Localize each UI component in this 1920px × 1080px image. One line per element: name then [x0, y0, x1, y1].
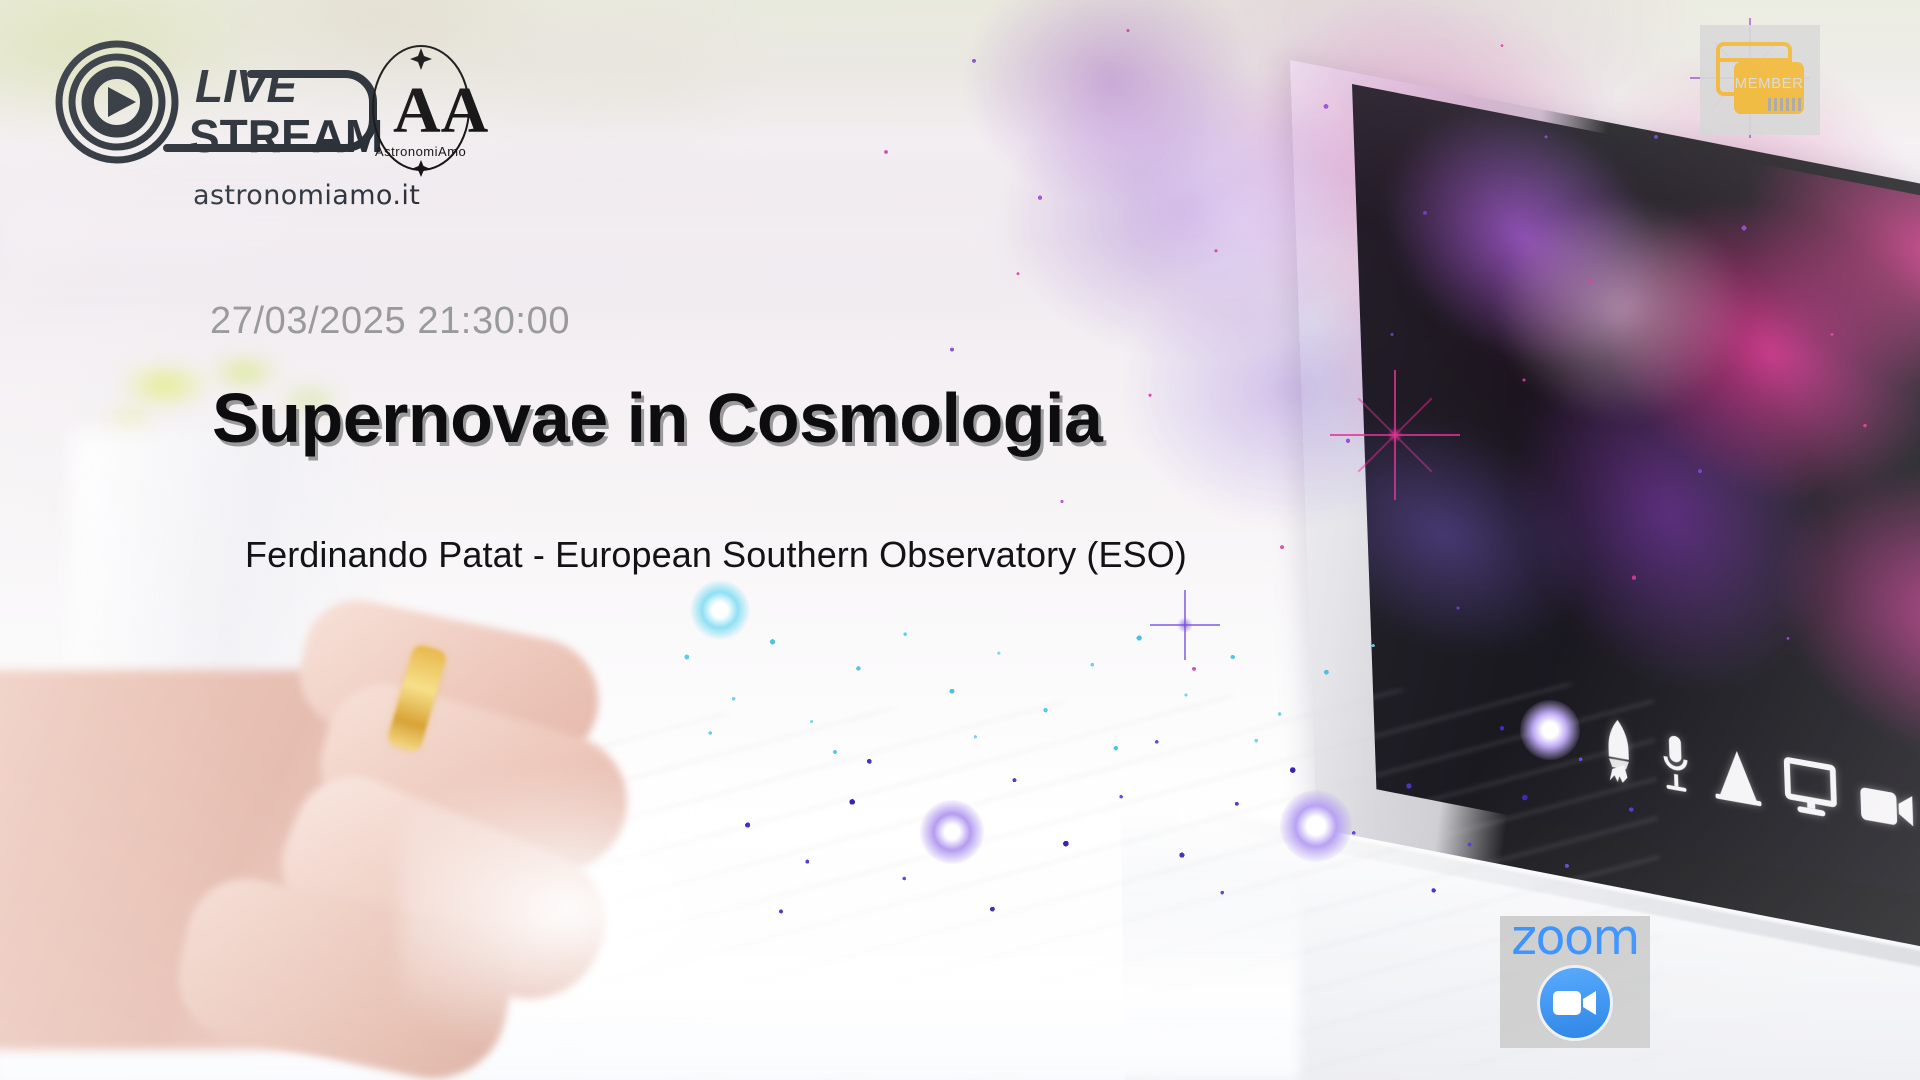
video-camera-icon: [1552, 989, 1598, 1017]
stream-word: STREAM: [189, 110, 383, 162]
play-icon: [108, 87, 136, 117]
svg-text:AA: AA: [393, 74, 489, 147]
event-speaker: Ferdinando Patat - European Southern Obs…: [245, 534, 1187, 576]
zoom-camera-button[interactable]: [1537, 965, 1613, 1041]
video-camera-icon: [1858, 779, 1916, 839]
member-label: MEMBER: [1735, 75, 1804, 92]
member-card-icon: MEMBER: [1710, 38, 1810, 122]
event-datetime: 27/03/2025 21:30:00: [210, 300, 570, 343]
astronomiamo-monogram: AA AstronomiAmo: [373, 46, 489, 177]
satellite-dish-icon: [1712, 745, 1764, 812]
microphone-icon: [1660, 731, 1692, 799]
member-badge[interactable]: MEMBER: [1700, 25, 1820, 135]
rocket-icon: [1598, 716, 1640, 790]
zoom-badge[interactable]: zoom: [1500, 916, 1650, 1048]
svg-text:AstronomiAmo: AstronomiAmo: [375, 144, 466, 159]
hand-highlight: [400, 760, 820, 1060]
live-word: LIVE: [195, 60, 299, 112]
website-url[interactable]: astronomiamo.it: [193, 180, 420, 211]
event-title: Supernovae in Cosmologia: [212, 378, 1102, 458]
monitor-icon: [1784, 755, 1838, 825]
livestream-promo-banner: LIVE STREAM AA AstronomiAmo astronomiamo…: [0, 0, 1920, 1080]
zoom-wordmark: zoom: [1511, 912, 1638, 963]
live-stream-logo[interactable]: LIVE STREAM AA AstronomiAmo astronomiamo…: [55, 40, 505, 225]
hand-typing: [0, 600, 740, 1080]
